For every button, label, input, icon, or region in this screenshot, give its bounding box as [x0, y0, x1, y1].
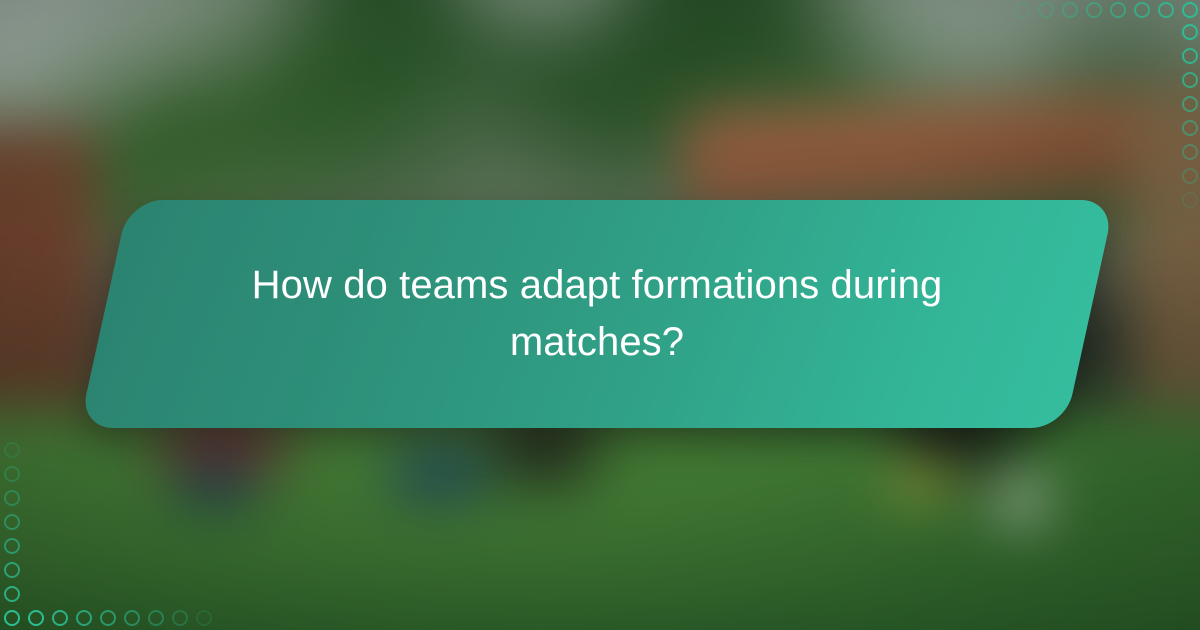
decor-ring — [1110, 2, 1126, 18]
decor-ring — [76, 610, 92, 626]
decor-ring — [1182, 24, 1198, 40]
question-card: How do teams adapt formations during mat… — [104, 200, 1090, 428]
decor-ring — [4, 490, 20, 506]
player-figure — [166, 458, 264, 514]
decor-ring — [28, 610, 44, 626]
decor-ring — [4, 562, 20, 578]
decor-ring — [148, 610, 164, 626]
decor-rings-bottom-left-row — [28, 610, 212, 626]
football-ball — [992, 478, 1051, 527]
decor-ring — [172, 610, 188, 626]
decor-ring — [1062, 2, 1078, 18]
decor-ring — [1182, 48, 1198, 64]
decor-rings-bottom-left-column — [4, 442, 20, 626]
decor-ring — [124, 610, 140, 626]
decor-ring — [196, 610, 212, 626]
decor-ring — [1158, 2, 1174, 18]
decor-ring — [4, 442, 20, 458]
decor-ring — [4, 610, 20, 626]
decor-ring — [1014, 2, 1030, 18]
player-figure — [880, 458, 964, 506]
decor-rings-top-right-row — [1014, 2, 1198, 18]
question-card-content: How do teams adapt formations during mat… — [104, 200, 1090, 428]
decor-ring — [1134, 2, 1150, 18]
question-title: How do teams adapt formations during mat… — [247, 257, 947, 371]
decor-ring — [1182, 120, 1198, 136]
decor-ring — [1182, 144, 1198, 160]
decor-ring — [4, 466, 20, 482]
brick-pillar — [0, 124, 96, 458]
decor-ring — [4, 514, 20, 530]
decor-ring — [1038, 2, 1054, 18]
decor-ring — [1182, 96, 1198, 112]
decor-ring — [1182, 192, 1198, 208]
decor-ring — [100, 610, 116, 626]
social-card-canvas: How do teams adapt formations during mat… — [0, 0, 1200, 630]
decor-ring — [1182, 168, 1198, 184]
decor-ring — [52, 610, 68, 626]
decor-ring — [1086, 2, 1102, 18]
decor-ring — [4, 538, 20, 554]
decor-ring — [4, 586, 20, 602]
decor-ring — [1182, 2, 1198, 18]
decor-rings-top-right-column — [1182, 24, 1198, 208]
decor-ring — [1182, 72, 1198, 88]
